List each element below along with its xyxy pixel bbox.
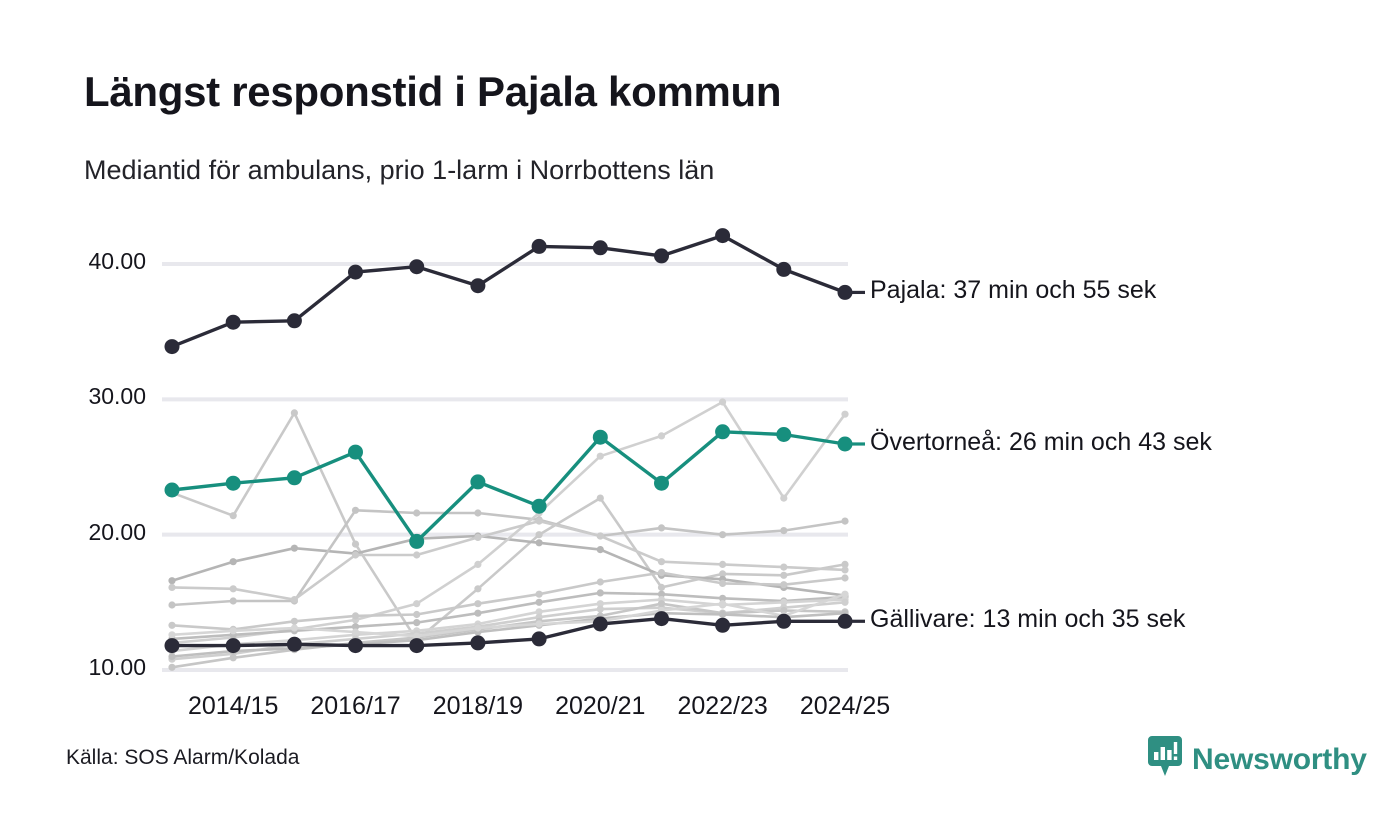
data-point [838,614,853,629]
data-point [536,531,543,538]
data-point [841,411,848,418]
plot-area: 40.0030.0020.0010.00 2014/152016/172018/… [0,0,1400,840]
data-point [413,619,420,626]
data-point [780,581,787,588]
data-point [719,561,726,568]
data-point [780,527,787,534]
data-point [287,313,302,328]
series-label-gällivare: Gällivare: 13 min och 35 sek [870,605,1185,634]
newsworthy-wordmark: Newsworthy [1192,743,1367,777]
x-tick-label: 2020/21 [530,692,670,721]
x-tick-label: 2016/17 [286,692,426,721]
data-point [230,627,237,634]
y-tick-label: 20.00 [36,519,146,546]
data-point [658,432,665,439]
data-point [291,618,298,625]
data-point [287,470,302,485]
data-point [226,476,241,491]
y-tick-label: 30.00 [36,383,146,410]
data-point [715,618,730,633]
data-point [658,524,665,531]
data-point [168,577,175,584]
data-point [658,600,665,607]
series-line [172,510,845,605]
data-point [597,578,604,585]
chart-container: Längst responstid i Pajala kommun Median… [0,0,1400,840]
data-point [165,638,180,653]
series-line [172,236,845,347]
data-point [352,551,359,558]
data-point [536,591,543,598]
series-line [172,604,845,668]
data-point [291,596,298,603]
data-point [536,539,543,546]
data-point [776,614,791,629]
data-point [409,259,424,274]
data-point [230,654,237,661]
data-point [841,599,848,606]
data-point [348,445,363,460]
data-point [658,584,665,591]
data-point [352,629,359,636]
data-point [841,574,848,581]
data-point [532,239,547,254]
x-tick-label: 2018/19 [408,692,548,721]
data-point [654,248,669,263]
data-point [230,585,237,592]
data-point [409,638,424,653]
data-point [230,512,237,519]
data-point [780,495,787,502]
data-point [168,664,175,671]
data-point [470,278,485,293]
data-point [532,499,547,514]
data-point [168,584,175,591]
newsworthy-logo: Newsworthy [1148,736,1367,783]
source-caption: Källa: SOS Alarm/Kolada [66,746,299,770]
data-point [597,606,604,613]
data-point [348,265,363,280]
data-point [474,534,481,541]
data-point [593,240,608,255]
data-point [287,637,302,652]
data-point [658,558,665,565]
data-point [168,631,175,638]
data-point [226,638,241,653]
series-label-pajala: Pajala: 37 min och 55 sek [870,276,1156,305]
data-point [536,599,543,606]
data-point [841,566,848,573]
data-point [413,600,420,607]
data-point [719,611,726,618]
data-point [780,572,787,579]
data-point [474,600,481,607]
series-line [172,602,845,659]
y-tick-label: 40.00 [36,248,146,275]
data-point [597,453,604,460]
newsworthy-bars-icon [1148,736,1182,783]
background-series [168,507,848,609]
highlight-series [165,228,853,354]
data-point [597,546,604,553]
data-point [719,398,726,405]
series-label-övertorneå: Övertorneå: 26 min och 43 sek [870,428,1212,457]
data-point [593,430,608,445]
data-point [474,509,481,516]
data-point [470,635,485,650]
x-tick-label: 2014/15 [163,692,303,721]
data-point [719,600,726,607]
data-point [654,476,669,491]
data-point [841,518,848,525]
data-point [470,474,485,489]
series-line [172,613,845,656]
data-point [841,591,848,598]
y-tick-label: 10.00 [36,654,146,681]
x-tick-label: 2024/25 [775,692,915,721]
data-point [474,561,481,568]
data-point [168,653,175,660]
data-point [348,638,363,653]
data-point [597,495,604,502]
data-point [165,339,180,354]
data-point [658,569,665,576]
data-point [291,409,298,416]
data-point [474,610,481,617]
data-point [230,597,237,604]
data-point [719,580,726,587]
series-line [172,413,845,640]
data-point [719,531,726,538]
data-point [715,424,730,439]
data-point [536,620,543,627]
data-point [536,518,543,525]
data-point [413,551,420,558]
data-point [352,541,359,548]
data-point [838,285,853,300]
data-point [165,483,180,498]
data-point [597,532,604,539]
data-point [654,611,669,626]
data-point [352,612,359,619]
data-point [230,558,237,565]
data-point [474,624,481,631]
data-point [291,545,298,552]
data-point [226,315,241,330]
data-point [413,611,420,618]
data-point [291,624,298,631]
data-point [597,589,604,596]
data-point [352,507,359,514]
data-point [780,564,787,571]
data-point [474,585,481,592]
data-point [593,617,608,632]
data-point [168,601,175,608]
data-point [715,228,730,243]
data-point [838,437,853,452]
data-point [532,631,547,646]
data-point [776,262,791,277]
data-point [413,509,420,516]
data-point [776,427,791,442]
data-point [168,622,175,629]
x-tick-label: 2022/23 [653,692,793,721]
data-point [409,534,424,549]
